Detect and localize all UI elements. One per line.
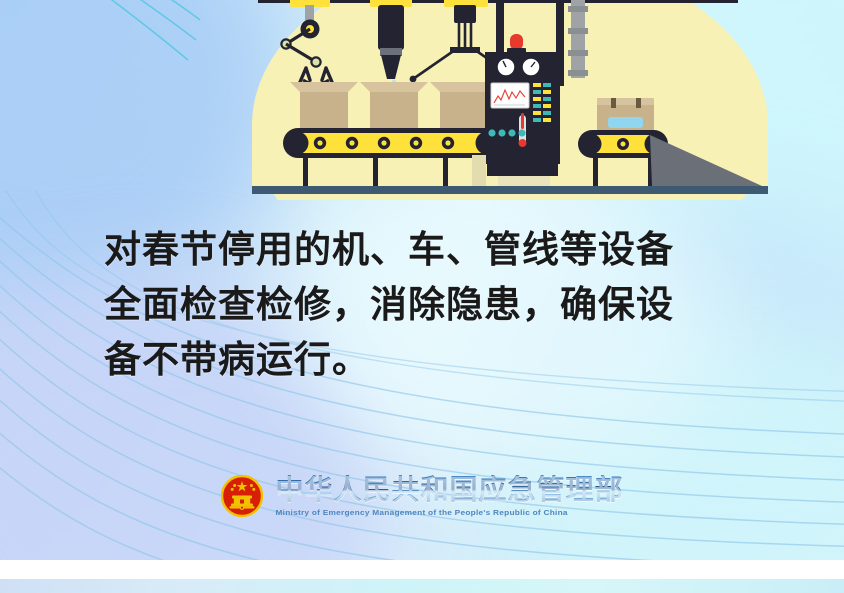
ministry-logo: 中华人民共和国应急管理部 Ministry of Emergency Manag… — [0, 466, 844, 526]
chart-screen — [491, 83, 529, 108]
national-emblem-icon — [220, 474, 264, 518]
white-divider — [0, 560, 844, 579]
page-headline: 对春节停用的机、车、管线等设备 全面检查检修，消除隐患，确保设 备不带病运行。 — [104, 222, 764, 387]
pipe-grey — [568, 0, 588, 78]
ministry-name-english: Ministry of Emergency Management of the … — [275, 507, 623, 516]
carton-box — [360, 82, 428, 135]
ministry-text-block: 中华人民共和国应急管理部 Ministry of Emergency Manag… — [275, 475, 623, 516]
factory-floor — [252, 186, 768, 194]
ministry-name-chinese: 中华人民共和国应急管理部 — [275, 475, 623, 505]
carton-boxes-on-belt — [290, 82, 512, 135]
poster-canvas: 对春节停用的机、车、管线等设备 全面检查检修，消除隐患，确保设 备不带病运行。 — [0, 0, 844, 560]
factory-illustration — [0, 0, 844, 200]
next-poster-strip — [0, 579, 844, 593]
carton-box — [290, 82, 358, 135]
